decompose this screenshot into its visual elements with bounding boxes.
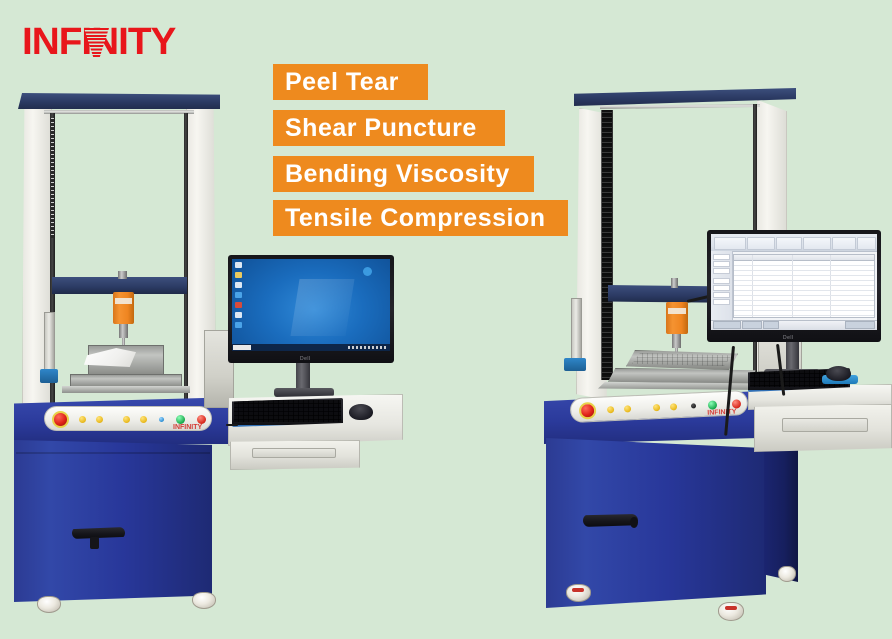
drawer-pull-handle[interactable] — [782, 418, 868, 432]
system-tray[interactable] — [845, 321, 875, 329]
desktop-icon[interactable] — [235, 322, 242, 328]
monitor-left: Dell — [228, 255, 394, 363]
mouse[interactable] — [349, 404, 373, 420]
test-table-support — [62, 386, 190, 393]
caster-front-left — [566, 584, 591, 602]
ribbon-group[interactable] — [803, 237, 831, 250]
load-cell-mount — [118, 271, 127, 279]
load-cell — [113, 292, 134, 324]
monitor-screen — [232, 259, 390, 351]
indicator-lamp — [691, 403, 696, 408]
test-table-base — [608, 368, 756, 384]
cable-drag-chain — [601, 110, 613, 380]
top-crossbar-metal-strip — [44, 110, 194, 114]
wallpaper-highlight — [291, 279, 355, 336]
guide-rail-right — [184, 113, 188, 405]
load-cell — [666, 302, 688, 334]
limit-sensor-box — [40, 369, 58, 383]
caster-front-right — [192, 592, 216, 609]
caster-front-left — [37, 596, 61, 613]
load-cell-mount — [671, 278, 678, 288]
ribbon-group[interactable] — [832, 237, 856, 250]
linear-scale-strip — [51, 118, 54, 238]
recycle-bin-icon[interactable] — [363, 267, 372, 276]
panel-brand-mark: INFINITY — [173, 424, 202, 431]
test-software-window — [711, 234, 877, 330]
panel-brand-mark: INFINITY — [707, 408, 736, 416]
operator-control-panel: INFINITY — [44, 406, 212, 431]
monitor-stand-base — [274, 388, 334, 397]
desktop-icon[interactable] — [235, 262, 242, 268]
caster-rear-right — [778, 566, 796, 582]
load-cell-label — [115, 298, 132, 304]
table-row[interactable] — [734, 311, 874, 316]
sidebar-row[interactable] — [713, 299, 730, 305]
ribbon-group[interactable] — [714, 237, 746, 250]
sidebar-row[interactable] — [713, 292, 730, 298]
sidebar-row[interactable] — [713, 268, 730, 274]
emergency-stop-button[interactable] — [52, 411, 69, 428]
return-button[interactable] — [140, 416, 147, 423]
cabinet-lock-icon — [630, 517, 638, 528]
sidebar-row[interactable] — [713, 254, 730, 260]
limit-sensor-box — [564, 358, 586, 371]
return-button[interactable] — [670, 403, 677, 410]
base-cabinet — [14, 440, 212, 602]
jog-down-button[interactable] — [624, 405, 631, 412]
sidebar-row[interactable] — [713, 278, 730, 284]
ribbon-group[interactable] — [747, 237, 775, 250]
testing-machine-left: INFINITY — [0, 0, 420, 639]
limit-switch-rail — [571, 298, 582, 362]
load-cell-shaft — [119, 324, 128, 338]
product-banner: INFINITY Peel Tear Shear Puncture Bendin… — [0, 0, 892, 639]
sidebar-row[interactable] — [713, 261, 730, 267]
taskbar[interactable] — [232, 344, 390, 351]
keyboard[interactable] — [232, 398, 343, 427]
taskbar-item[interactable] — [742, 321, 762, 329]
taskbar-item[interactable] — [713, 321, 741, 329]
load-cell-shaft — [672, 334, 681, 348]
taskbar[interactable] — [711, 320, 877, 330]
taskbar-item[interactable] — [763, 321, 779, 329]
mouse-cable — [226, 424, 238, 426]
start-button[interactable] — [176, 415, 185, 424]
data-table[interactable] — [733, 254, 875, 318]
caster-front-right — [718, 602, 744, 621]
desktop-icon[interactable] — [235, 282, 242, 288]
limit-switch-rail — [44, 312, 55, 374]
drawer-pull-handle[interactable] — [252, 448, 336, 458]
start-button-icon[interactable] — [233, 345, 251, 350]
software-ribbon[interactable] — [711, 234, 877, 252]
desktop-icon[interactable] — [235, 302, 242, 308]
stop-button[interactable] — [732, 399, 741, 408]
software-sidebar[interactable] — [711, 251, 733, 321]
top-crossbar — [18, 93, 220, 109]
monitor-brand-logo: Dell — [783, 335, 794, 341]
ribbon-group[interactable] — [857, 237, 876, 250]
desktop-icon[interactable] — [235, 292, 242, 298]
caster-brake-left — [572, 588, 584, 592]
monitor-brand-logo: Dell — [300, 356, 311, 362]
desktop-icon[interactable] — [235, 272, 242, 278]
caster-brake-right — [725, 606, 737, 610]
start-button[interactable] — [708, 400, 717, 409]
sidebar-row[interactable] — [713, 285, 730, 291]
indicator-lamp — [159, 417, 164, 422]
position-set-button[interactable] — [653, 404, 660, 411]
jog-up-button[interactable] — [79, 416, 86, 423]
testing-machine-right: INFINITY — [520, 0, 892, 639]
position-set-button[interactable] — [123, 416, 130, 423]
keyboard-keys — [234, 400, 341, 422]
jog-up-button[interactable] — [607, 406, 614, 413]
base-cabinet — [546, 438, 766, 608]
top-crossbar-metal-strip — [600, 104, 760, 109]
cabinet-lock-icon — [90, 537, 99, 549]
load-cell-label — [668, 308, 686, 314]
stop-button[interactable] — [197, 415, 206, 424]
cabinet-seam — [16, 452, 210, 454]
mouse[interactable] — [826, 366, 851, 381]
emergency-stop-button[interactable] — [579, 402, 597, 420]
system-tray[interactable] — [348, 346, 388, 350]
desktop-icon[interactable] — [235, 312, 242, 318]
monitor-right: Dell — [707, 230, 881, 342]
jog-down-button[interactable] — [96, 416, 103, 423]
windows-desktop — [232, 259, 390, 351]
monitor-stand-neck — [786, 342, 799, 372]
ribbon-group[interactable] — [776, 237, 802, 250]
monitor-screen — [711, 234, 877, 330]
monitor-stand-neck — [296, 363, 310, 391]
